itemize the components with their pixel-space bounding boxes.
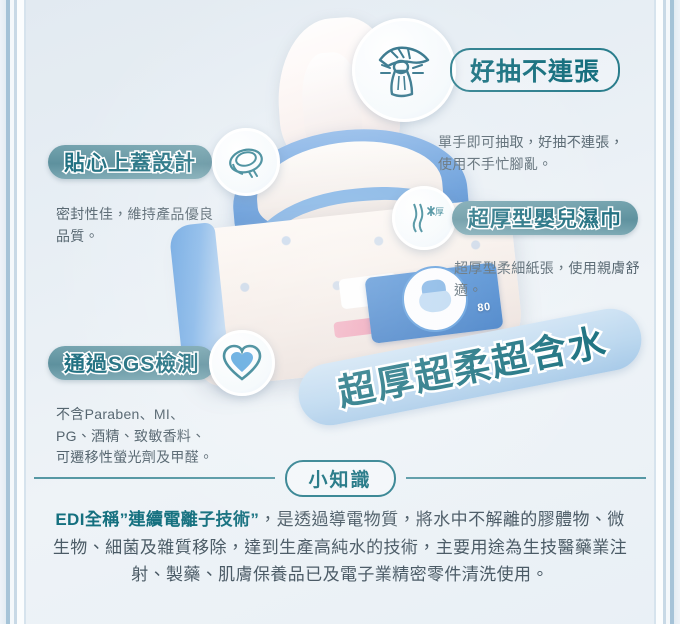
page-edge-stripe-left (6, 0, 10, 624)
feature-thickness-badge-row: 厚 超厚型嬰兒濕巾 (392, 186, 652, 250)
feature-sgs-badge-row: 通過SGS檢測 (48, 330, 278, 396)
feature-pull: 好抽不連張 單手即可抽取，好抽不連張，使用不手忙腳亂。 (352, 18, 652, 175)
divider: 小知識 (34, 462, 646, 494)
page-edge-stripe-left (10, 0, 14, 624)
page-edge-stripe-right (654, 0, 656, 624)
feature-pull-description: 單手即可抽取，好抽不連張，使用不手忙腳亂。 (438, 132, 638, 175)
divider-line-left (34, 477, 275, 479)
divider-line-right (406, 477, 647, 479)
feature-thickness-description: 超厚型柔細紙張，使用親膚舒適。 (454, 258, 640, 301)
page-edge-stripe-left (17, 0, 24, 624)
feature-sgs-title: 通過SGS檢測 (48, 346, 215, 380)
feature-thickness: 厚 超厚型嬰兒濕巾 超厚型柔細紙張，使用親膚舒適。 (392, 186, 652, 301)
feature-lid-badge-row: 貼心上蓋設計 (48, 128, 278, 196)
note-highlight: EDI全稱”連續電離子技術” (55, 510, 259, 529)
page-edge-stripe-right (656, 0, 663, 624)
note-paragraph: EDI全稱”連續電離子技術”，是透過導電物質，將水中不解離的膠體物、微生物、細菌… (52, 506, 628, 589)
hand-pulling-tissue-icon (352, 18, 456, 122)
feature-thickness-title: 超厚型嬰兒濕巾 (452, 201, 638, 235)
thickness-measure-icon: 厚 (392, 186, 456, 250)
feature-lid: 貼心上蓋設計 密封性佳，維持產品優良品質。 (48, 128, 278, 247)
heart-icon (209, 330, 275, 396)
feature-lid-title: 貼心上蓋設計 (48, 145, 212, 179)
page-edge-stripe-right (674, 0, 680, 624)
feature-pull-badge-row: 好抽不連張 (352, 18, 652, 122)
page-edge-stripe-right (663, 0, 666, 624)
feature-pull-title: 好抽不連張 (450, 48, 620, 92)
page-edge-stripe-left (0, 0, 6, 624)
page-edge-stripe-right (666, 0, 670, 624)
page-edge-stripe-left (24, 0, 26, 624)
feature-sgs: 通過SGS檢測 不含Paraben、MI、PG、酒精、致敏香料、可遷移性螢光劑及… (48, 330, 278, 469)
flip-lid-icon (212, 128, 280, 196)
infographic-page: 80 超厚超柔超含水 貼心上蓋設計 密封性佳，維持產品優良品質。 (0, 0, 680, 624)
svg-text:厚: 厚 (435, 207, 444, 218)
feature-sgs-description: 不含Paraben、MI、PG、酒精、致敏香料、可遷移性螢光劑及甲醛。 (56, 404, 216, 469)
feature-lid-description: 密封性佳，維持產品優良品質。 (56, 204, 216, 247)
divider-label: 小知識 (285, 460, 396, 497)
page-edge-stripe-right (670, 0, 674, 624)
page-edge-stripe-left (14, 0, 17, 624)
